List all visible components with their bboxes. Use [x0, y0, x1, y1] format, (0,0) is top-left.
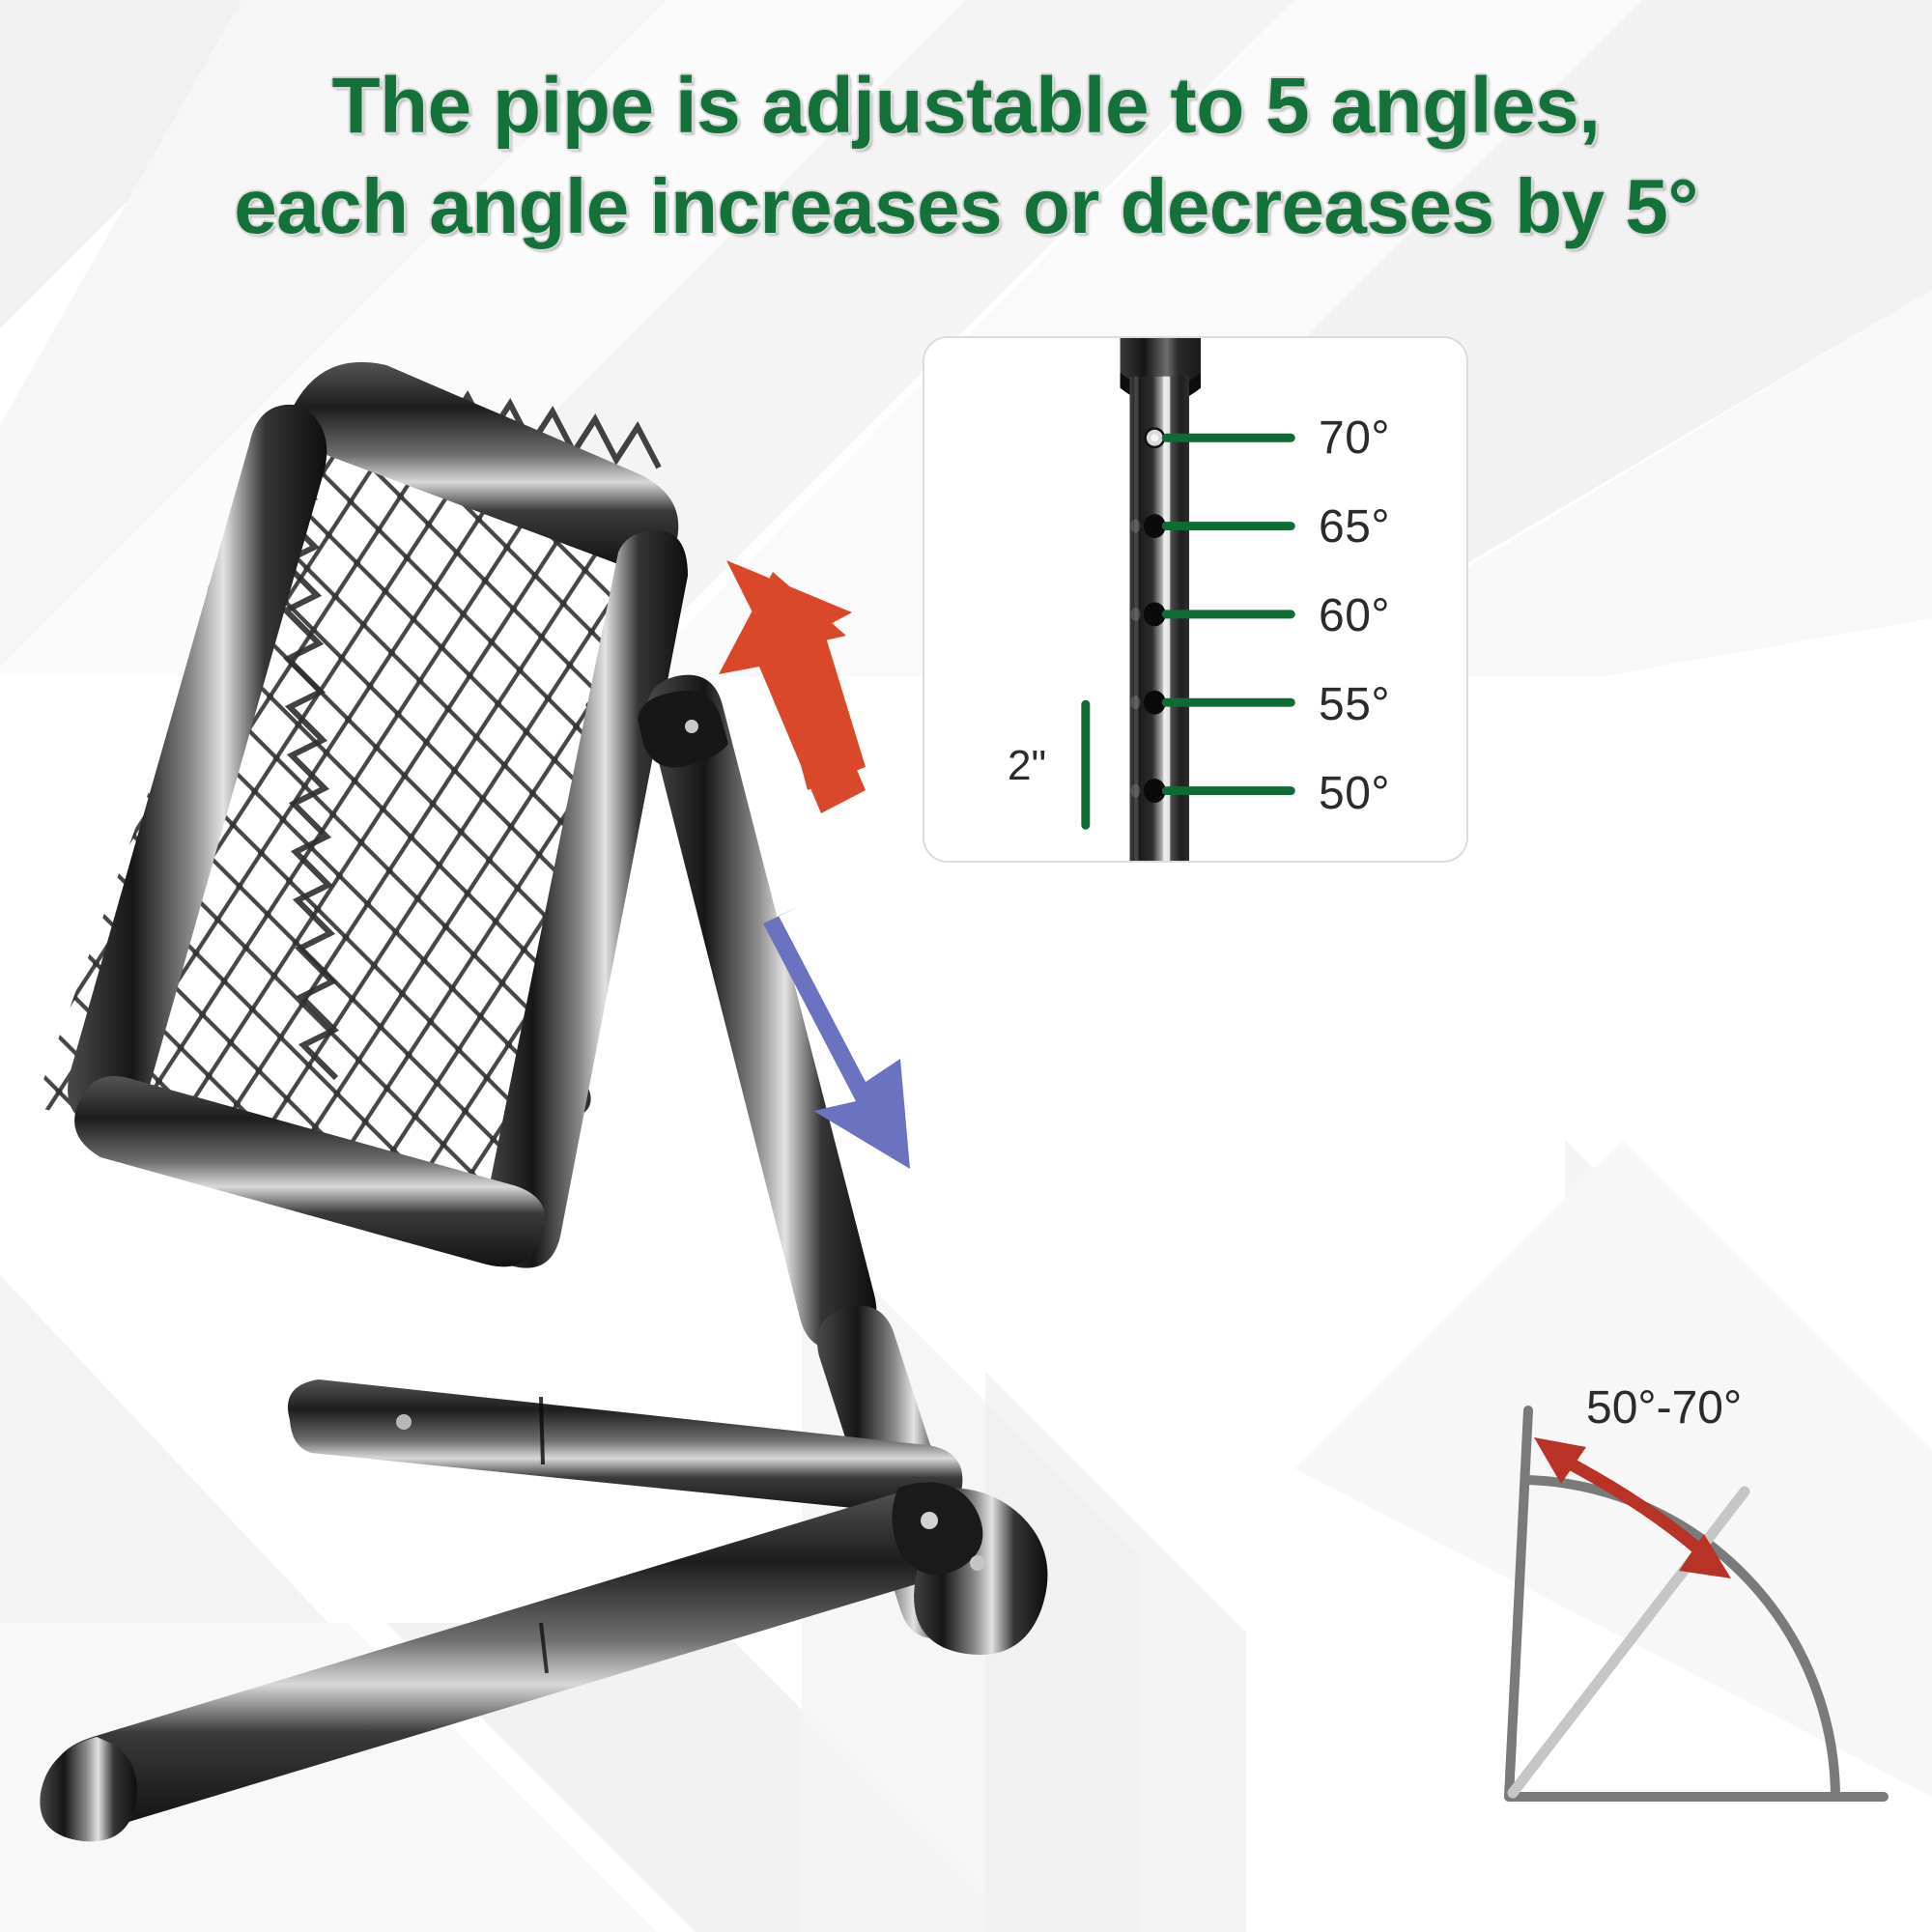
- angle-range-text: 50°-70°: [1586, 1381, 1742, 1435]
- tilt-direction-arrows: [676, 560, 1082, 1217]
- vertical-axis: [1509, 1410, 1528, 1797]
- angle-label-70: 70°: [1319, 412, 1390, 465]
- cross-brace-joint: [541, 1397, 543, 1464]
- tilt-down-arrow-group: [763, 906, 910, 1169]
- angle-range-diagram: 50°-70°: [1420, 1343, 1922, 1884]
- angle-label-55: 55°: [1319, 678, 1390, 731]
- angle-label-60: 60°: [1319, 589, 1390, 642]
- cross-brace-bolt: [396, 1414, 412, 1430]
- base-left-elbow: [40, 1737, 136, 1841]
- quarter-arc: [1528, 1480, 1835, 1797]
- angle-ray: [1513, 1492, 1745, 1793]
- angle-range-arrow: [1534, 1437, 1731, 1578]
- base-foot-rail: [53, 1487, 975, 1829]
- angle-label-50: 50°: [1319, 767, 1390, 820]
- tilt-up-arrow-group: [719, 572, 866, 813]
- angle-label-65: 65°: [1319, 500, 1390, 554]
